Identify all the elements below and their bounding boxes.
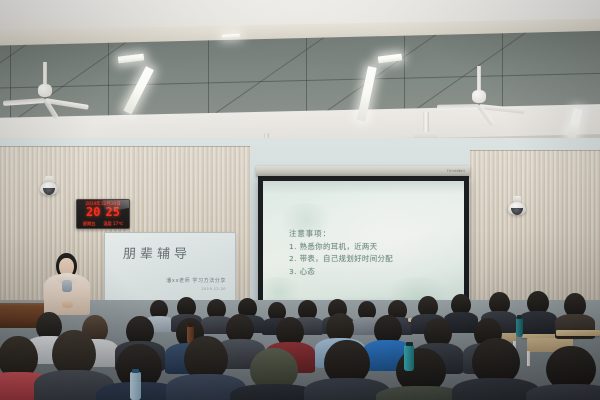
ceiling-fan [440, 66, 518, 114]
student [540, 346, 600, 400]
slide-item-2: 2. 带表，自己规划好时间分配 [289, 253, 393, 266]
led-clock-footer: 星期五 温度 17℃ [77, 221, 129, 227]
student [46, 330, 102, 400]
slide-item-3: 3. 心态 [289, 266, 393, 279]
screen-brand-label: ThinkWell [447, 169, 465, 173]
led-clock-temperature: 温度 17℃ [103, 221, 123, 227]
whiteboard-signature: 潘xx老师 学习方法分享 2019.12.20 [166, 277, 226, 292]
water-bottle [130, 372, 141, 400]
instructor-inner-top [62, 280, 72, 292]
whiteboard-title: 朋辈辅导 [123, 243, 192, 262]
classroom-photo: 2019年12月20日 20 25 星期五 温度 17℃ 朋辈辅导 潘xx老师 … [0, 0, 600, 400]
student [244, 348, 304, 400]
student [524, 291, 552, 327]
student [318, 340, 376, 400]
student [390, 348, 452, 400]
desk-leg [527, 351, 530, 366]
water-bottle [516, 318, 523, 337]
led-clock-hours: 20 [86, 206, 100, 218]
security-camera-right [508, 196, 526, 216]
ceiling-fan [8, 62, 82, 110]
security-camera-left [40, 176, 58, 196]
whiteboard-signature-line: 潘xx老师 学习方法分享 [166, 277, 226, 286]
slide-text-block: 注意事项： 1. 熟悉你的耳机，近两天 2. 带表，自己规划好时间分配 3. 心… [289, 228, 393, 279]
slide-heading: 注意事项： [289, 228, 393, 241]
instructor-hands [62, 301, 73, 308]
student [560, 293, 590, 331]
led-clock-display: 2019年12月20日 20 25 星期五 温度 17℃ [76, 199, 130, 229]
water-bottle [404, 345, 414, 371]
student [466, 338, 526, 400]
student [178, 336, 234, 400]
slide-item-1: 1. 熟悉你的耳机，近两天 [289, 241, 393, 254]
student-desk [556, 330, 600, 336]
whiteboard-signature-date: 2019.12.20 [166, 286, 226, 292]
led-clock-weekday: 星期五 [83, 221, 96, 227]
instructor [44, 253, 90, 315]
